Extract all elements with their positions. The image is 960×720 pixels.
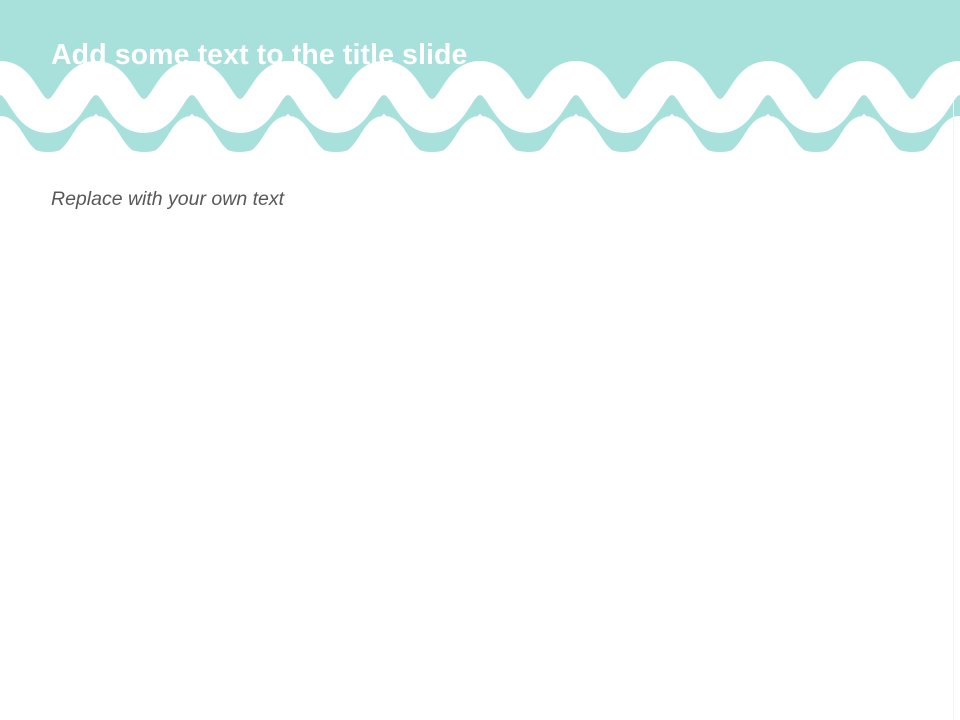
title-slide: Add some text to the title slide Replace…	[0, 0, 960, 720]
white-wave-stripe	[0, 78, 960, 116]
slide-body-area	[0, 225, 960, 720]
placeholder-guide-line	[953, 100, 954, 720]
subtitle-placeholder[interactable]: Replace with your own text	[51, 185, 909, 215]
slide-subtitle: Replace with your own text	[51, 188, 284, 211]
slide-title: Add some text to the title slide	[51, 40, 468, 71]
wave-divider-svg	[0, 0, 960, 185]
white-base-fill	[0, 116, 960, 185]
wave-divider-decoration	[0, 0, 960, 185]
title-placeholder[interactable]: Add some text to the title slide	[51, 30, 909, 82]
teal-wave-stripe	[0, 95, 960, 185]
